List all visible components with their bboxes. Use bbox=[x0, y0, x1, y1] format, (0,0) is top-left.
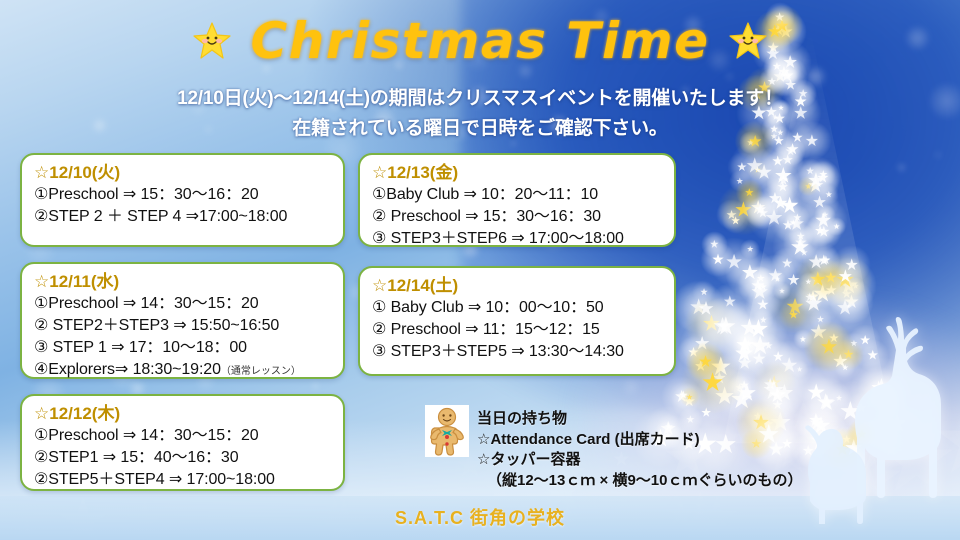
schedule-row: ①Preschool ⇒ 14：30〜15：20 bbox=[34, 425, 333, 447]
bring-item-attendance-card: ☆Attendance Card (出席カード) bbox=[477, 430, 803, 451]
bring-items-text: 当日の持ち物 ☆Attendance Card (出席カード) ☆タッパー容器 … bbox=[477, 405, 803, 492]
schedule-row: ① Baby Club ⇒ 10：00〜10：50 bbox=[372, 297, 664, 319]
schedule-row-note: （通常レッスン） bbox=[221, 366, 301, 377]
poster-canvas: Christmas Time 12/10日(火)〜12/14(土)の期間はクリス… bbox=[0, 0, 960, 540]
schedule-row: ② Preschool ⇒ 11：15〜12：15 bbox=[372, 319, 664, 341]
bring-item-container: ☆タッパー容器 bbox=[477, 450, 803, 471]
schedule-row: ②STEP1 ⇒ 15：40〜16：30 bbox=[34, 447, 333, 469]
title-row: Christmas Time bbox=[0, 12, 960, 70]
page-title: Christmas Time bbox=[250, 12, 709, 70]
bring-items-title: 当日の持ち物 bbox=[477, 409, 803, 430]
bring-items-section: 当日の持ち物 ☆Attendance Card (出席カード) ☆タッパー容器 … bbox=[425, 405, 803, 492]
card-date-heading: ☆12/12(木) bbox=[34, 403, 333, 424]
subtitle-line-1: 12/10日(火)〜12/14(土)の期間はクリスマスイベントを開催いたします！ bbox=[0, 83, 960, 110]
schedule-row: ③ STEP3＋STEP6 ⇒ 17:00〜18:00 bbox=[372, 228, 664, 250]
schedule-card-12-12: ☆12/12(木) ①Preschool ⇒ 14：30〜15：20 ②STEP… bbox=[20, 394, 345, 491]
card-date-heading: ☆12/11(水) bbox=[34, 271, 333, 292]
gingerbread-man-icon bbox=[425, 405, 469, 457]
schedule-card-12-14: ☆12/14(土) ① Baby Club ⇒ 10：00〜10：50 ② Pr… bbox=[358, 266, 676, 376]
footer-school-name: S.A.T.C 街角の学校 bbox=[0, 504, 960, 530]
smiling-star-icon bbox=[192, 22, 232, 60]
schedule-row: ①Preschool ⇒ 15：30〜16：20 bbox=[34, 184, 333, 206]
bring-item-container-size: （縦12〜13ｃｍ × 横9〜10ｃｍぐらいのもの） bbox=[477, 471, 803, 492]
schedule-card-12-10: ☆12/10(火) ①Preschool ⇒ 15：30〜16：20 ②STEP… bbox=[20, 153, 345, 247]
schedule-row: ② STEP2＋STEP3 ⇒ 15:50~16:50 bbox=[34, 315, 333, 337]
schedule-row-text: ④Explorers⇒ 18:30~19:20 bbox=[34, 361, 221, 378]
schedule-row: ①Preschool ⇒ 14：30〜15：20 bbox=[34, 293, 333, 315]
schedule-row: ①Baby Club ⇒ 10：20〜11：10 bbox=[372, 184, 664, 206]
card-date-heading: ☆12/10(火) bbox=[34, 162, 333, 183]
schedule-row: ④Explorers⇒ 18:30~19:20（通常レッスン） bbox=[34, 359, 333, 381]
card-date-heading: ☆12/13(金) bbox=[372, 162, 664, 183]
card-date-heading: ☆12/14(土) bbox=[372, 275, 664, 296]
subtitle-line-2: 在籍されている曜日で日時をご確認下さい。 bbox=[0, 113, 960, 140]
smiling-star-icon bbox=[728, 22, 768, 60]
schedule-row: ③ STEP3＋STEP5 ⇒ 13:30〜14:30 bbox=[372, 341, 664, 363]
schedule-card-12-11: ☆12/11(水) ①Preschool ⇒ 14：30〜15：20 ② STE… bbox=[20, 262, 345, 379]
schedule-card-12-13: ☆12/13(金) ①Baby Club ⇒ 10：20〜11：10 ② Pre… bbox=[358, 153, 676, 247]
schedule-row: ②STEP 2 ＋ STEP 4 ⇒17:00~18:00 bbox=[34, 206, 333, 228]
schedule-row: ②STEP5＋STEP4 ⇒ 17:00~18:00 bbox=[34, 469, 333, 491]
schedule-row: ③ STEP 1 ⇒ 17：10〜18：00 bbox=[34, 337, 333, 359]
schedule-row: ② Preschool ⇒ 15：30〜16：30 bbox=[372, 206, 664, 228]
